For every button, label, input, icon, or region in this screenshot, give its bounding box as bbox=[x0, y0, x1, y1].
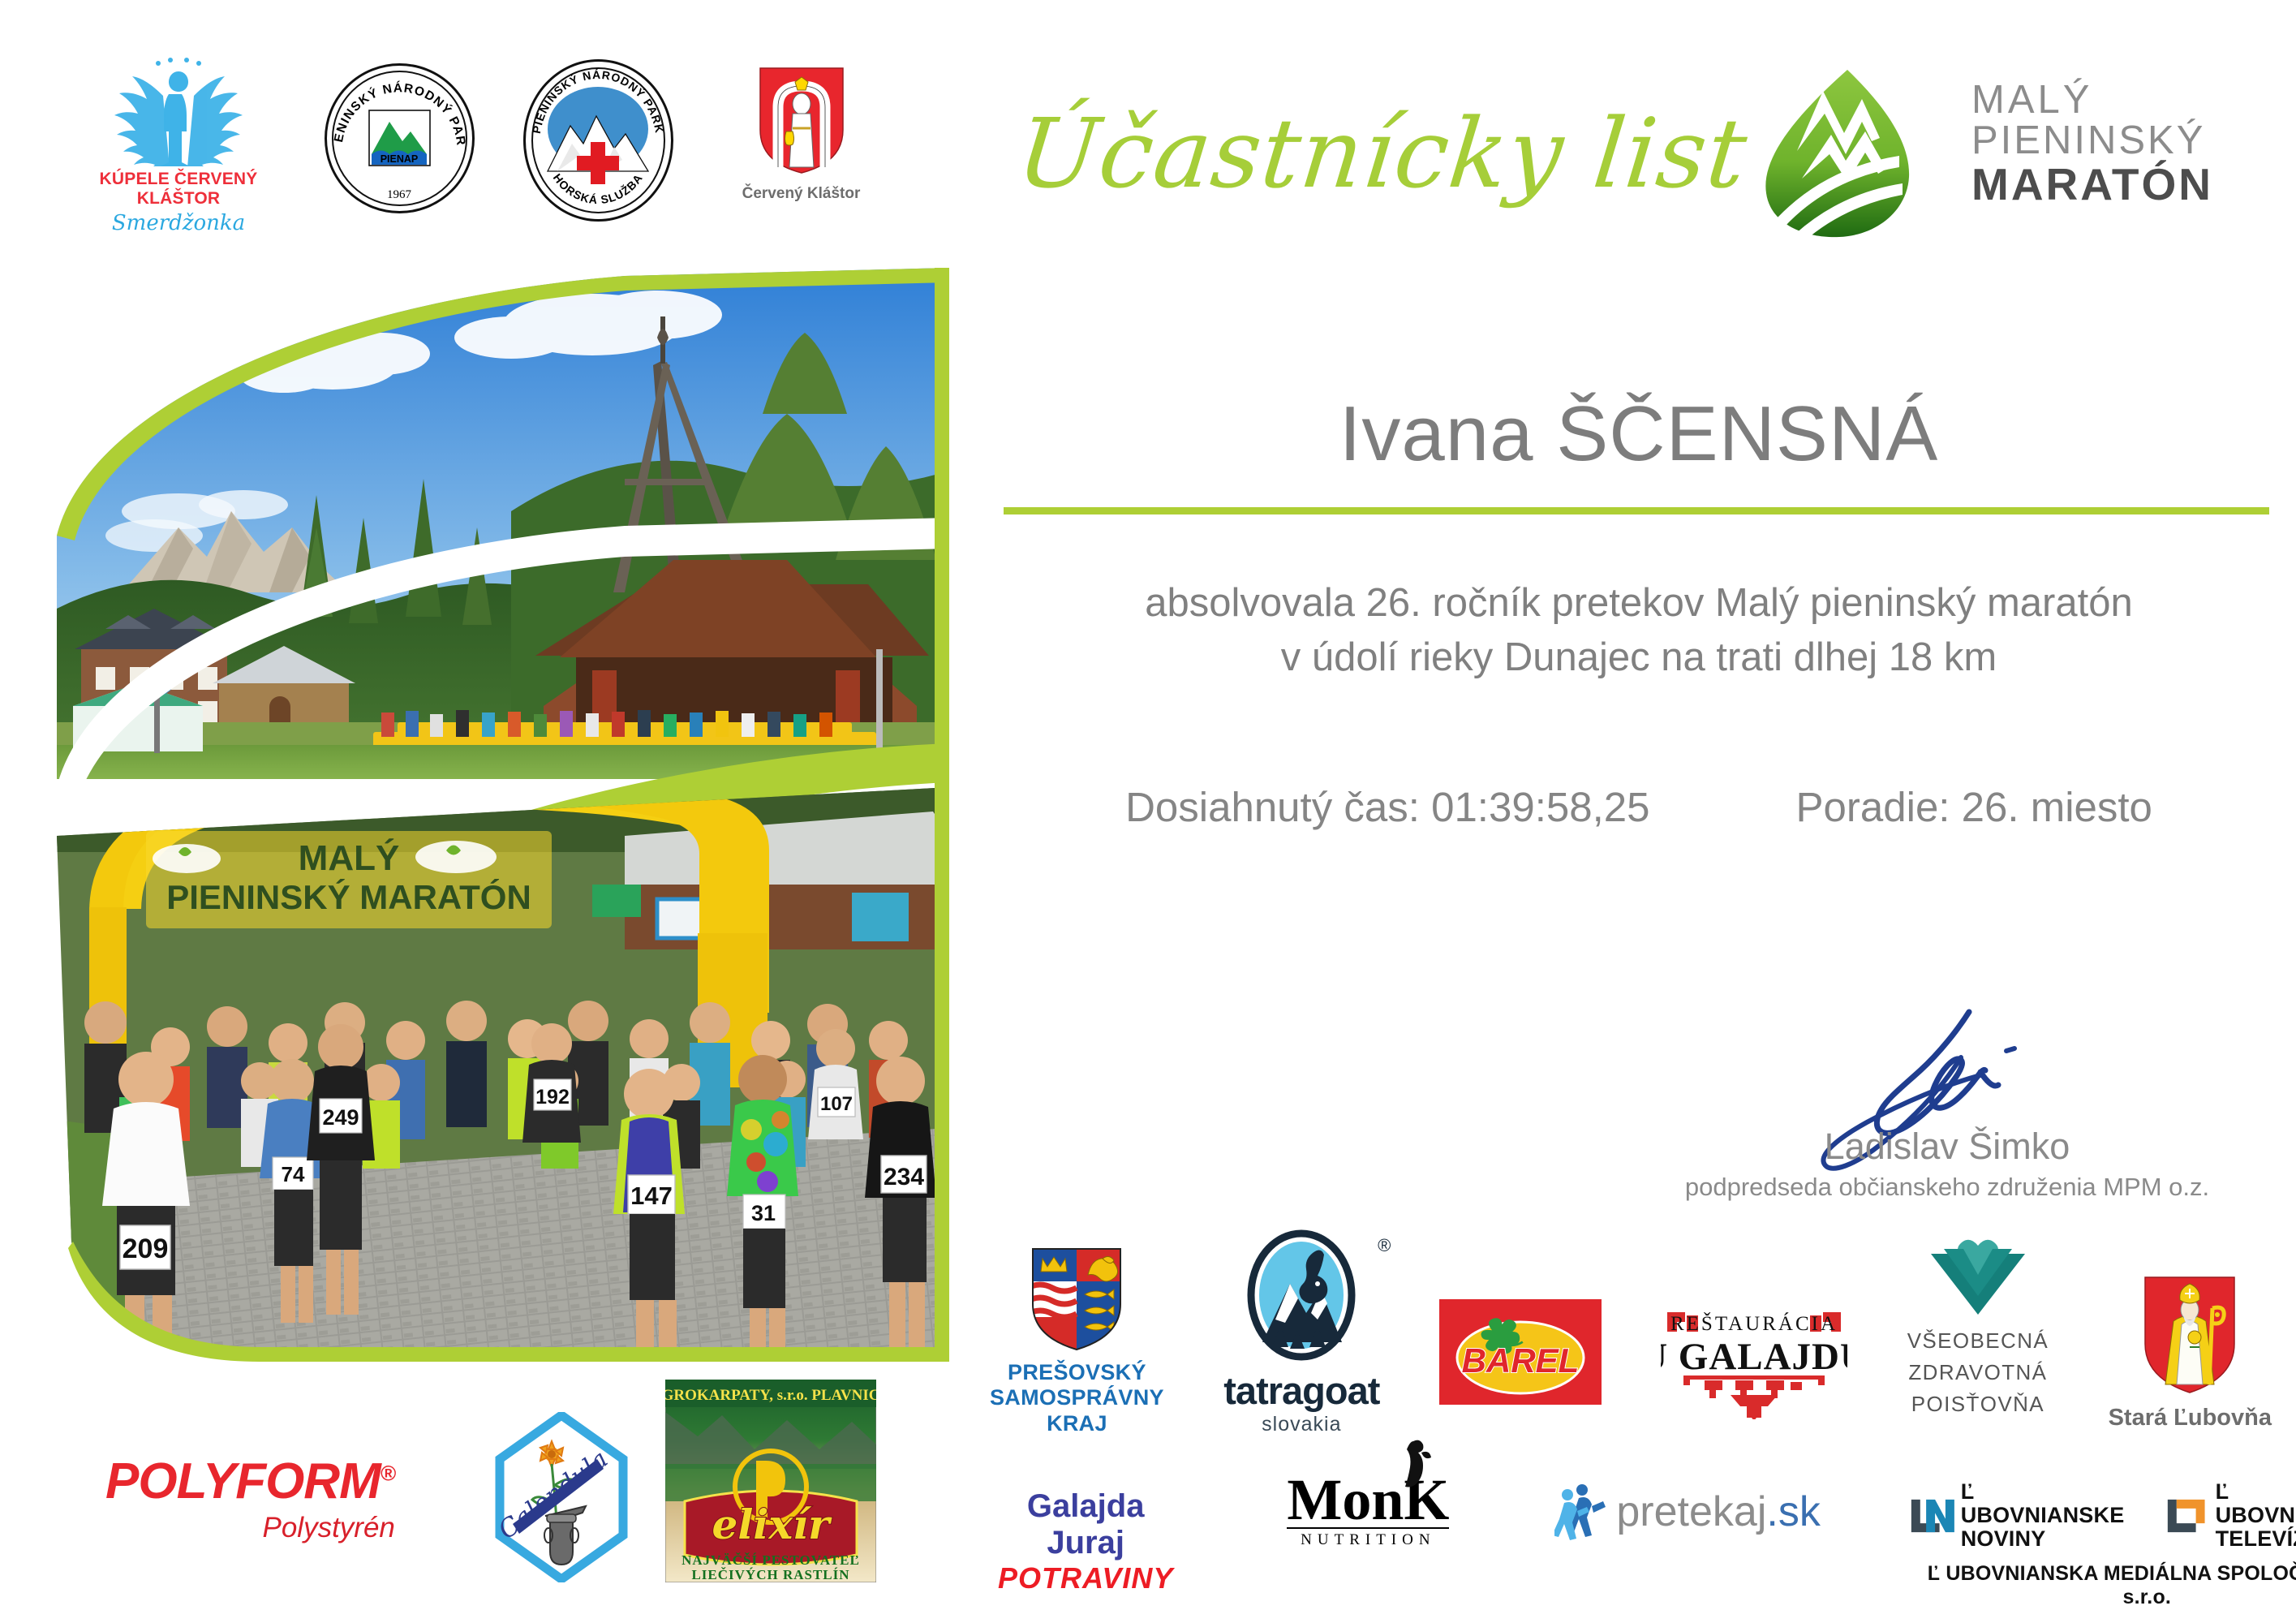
polyform-trademark: ® bbox=[381, 1461, 395, 1485]
svg-text:31: 31 bbox=[751, 1201, 776, 1225]
description-line-2: v údolí rieky Dunajec na trati dlhej 18 … bbox=[1006, 631, 2272, 685]
polyform-subtitle: Polystyrén bbox=[105, 1512, 395, 1544]
galajda-line1: Galajda Juraj bbox=[998, 1488, 1173, 1561]
u-galajdu-line2: U GALAJDU bbox=[1661, 1336, 1847, 1378]
sponsor-kupele-line1: KÚPELE ČERVENÝ KLÁŠTOR bbox=[77, 170, 280, 209]
participant-name: Ivana ŠČENSNÁ bbox=[1022, 390, 2255, 479]
svg-text:192: 192 bbox=[535, 1086, 570, 1109]
signature-name: Ladislav Šimko bbox=[1639, 1126, 2255, 1168]
top-sponsor-logos: KÚPELE ČERVENÝ KLÁŠTOR Smerdžonka PIENIN… bbox=[77, 57, 970, 243]
green-divider bbox=[1004, 507, 2269, 514]
angel-water-icon bbox=[110, 57, 247, 166]
sponsor-agrokarpaty-elixir: AGROKARPATY, s.r.o. PLAVNICA elixír NAJV… bbox=[665, 1380, 876, 1582]
signature-block: Ladislav Šimko podpredseda občianskeho z… bbox=[1639, 1002, 2255, 1202]
vszp-line3: POISŤOVŇA bbox=[1907, 1388, 2049, 1420]
horska-sluzba-svg: PIENINSKÝ NÁRODNÝ PARK HORSKÁ SLUŽBA bbox=[523, 59, 673, 222]
ltv-line1: Ľ UBOVNIANSKA bbox=[2216, 1480, 2296, 1527]
coat-of-arms-icon bbox=[757, 65, 846, 174]
sponsor-horska-sluzba: PIENINSKÝ NÁRODNÝ PARK HORSKÁ SLUŽBA bbox=[523, 59, 673, 222]
sponsor-tatragoat: ® tatragoat slovakia bbox=[1223, 1229, 1379, 1436]
monk-figure-icon bbox=[1391, 1438, 1439, 1488]
svg-text:107: 107 bbox=[820, 1093, 853, 1115]
psk-line2: SAMOSPRÁVNY bbox=[990, 1385, 1164, 1410]
galajda-line2: POTRAVINY bbox=[998, 1561, 1173, 1595]
svg-text:PIENAP: PIENAP bbox=[381, 153, 419, 165]
elixir-wordmark: elixír bbox=[712, 1500, 833, 1548]
finish-time: Dosiahnutý čas: 01:39:58,25 bbox=[1125, 783, 1649, 831]
mpm-logo-line2: PIENINSKÝ bbox=[1971, 120, 2272, 161]
mpm-logo-line1: MALÝ bbox=[1971, 80, 2272, 120]
barel-wordmark: BAREL bbox=[1461, 1341, 1579, 1380]
sponsor-barel: BAREL bbox=[1439, 1299, 1602, 1409]
mpm-logo: MALÝ PIENINSKÝ MARATÓN bbox=[1748, 63, 2268, 242]
svg-text:74: 74 bbox=[282, 1162, 305, 1186]
certificate-title: Účastnícky list bbox=[1013, 97, 1752, 209]
sponsor-lubovnianska-televizia: Ľ UBOVNIANSKA TELEVÍZIA bbox=[2166, 1480, 2296, 1551]
vszp-line1: VŠEOBECNÁ bbox=[1907, 1325, 2049, 1357]
description-line-1: absolvovala 26. ročník pretekov Malý pie… bbox=[1006, 576, 2272, 631]
sponsor-cerveny-klastor: Červený Kláštor bbox=[730, 65, 872, 203]
psk-line1: PREŠOVSKÝ bbox=[990, 1360, 1164, 1385]
elixir-bottom-line1: NAJVÄČŠÍ PESTOVATEĽ bbox=[681, 1552, 860, 1568]
svg-text:MALÝ: MALÝ bbox=[299, 837, 400, 878]
sponsor-pieninsky-narodny-park: PIENINSKÝ NÁRODNÝ PARK PIENAP 1967 bbox=[325, 63, 475, 213]
ln-line2: NOVINY bbox=[1961, 1527, 2129, 1551]
sponsor-stara-lubovna: Stará Ľubovňa bbox=[2109, 1274, 2272, 1431]
sponsor-kupele-cerveny-klastor: KÚPELE ČERVENÝ KLÁŠTOR Smerdžonka bbox=[77, 57, 280, 235]
sponsor-calendula: Calendula bbox=[495, 1412, 629, 1582]
elixir-logo-icon: AGROKARPATY, s.r.o. PLAVNICA elixír NAJV… bbox=[665, 1380, 876, 1582]
sponsor-pretekaj-sk: pretekaj.sk bbox=[1554, 1482, 1820, 1542]
mountain-leaf-logo-icon bbox=[1748, 63, 1951, 242]
polyform-wordmark: POLYFORM® bbox=[105, 1453, 395, 1510]
u-galajdu-logo-icon: REŠTAURÁCIA U GALAJDU bbox=[1661, 1298, 1847, 1419]
ltv-mark-icon bbox=[2166, 1496, 2209, 1535]
vszp-line2: ZDRAVOTNÁ bbox=[1907, 1357, 2049, 1388]
svg-text:249: 249 bbox=[322, 1105, 359, 1130]
sponsor-monk-nutrition: MonK NUTRITION bbox=[1287, 1472, 1449, 1549]
sponsor-lubovnianske-noviny: Ľ UBOVNIANSKE NOVINY bbox=[1910, 1480, 2129, 1551]
tatragoat-title: tatragoat bbox=[1223, 1368, 1379, 1413]
bottom-sponsors-row-1: PREŠOVSKÝ SAMOSPRÁVNY KRAJ bbox=[990, 1233, 2272, 1436]
ln-line1: Ľ UBOVNIANSKE bbox=[1961, 1480, 2129, 1527]
svg-text:147: 147 bbox=[630, 1182, 673, 1210]
monk-subtitle: NUTRITION bbox=[1287, 1527, 1449, 1549]
psk-line3: KRAJ bbox=[990, 1411, 1164, 1436]
mpm-logo-line3: MARATÓN bbox=[1971, 161, 2272, 208]
agrokarpaty-header: AGROKARPATY, s.r.o. PLAVNICA bbox=[665, 1387, 876, 1404]
tatragoat-trademark: ® bbox=[1378, 1235, 1391, 1256]
media-sponsors-group: Ľ UBOVNIANSKE NOVINY Ľ UBOVNIANSKA TELEV… bbox=[1910, 1480, 2296, 1609]
mpm-logo-text: MALÝ PIENINSKÝ MARATÓN bbox=[1971, 80, 2272, 208]
svg-text:1967: 1967 bbox=[387, 188, 412, 201]
tatragoat-logo-icon bbox=[1243, 1229, 1361, 1363]
stara-lubovna-label: Stará Ľubovňa bbox=[2109, 1405, 2272, 1431]
calendula-logo-icon: Calendula bbox=[495, 1412, 629, 1582]
signature-role: podpredseda občianskeho združenia MPM o.… bbox=[1639, 1173, 2255, 1202]
sponsor-cerveny-klastor-label: Červený Kláštor bbox=[730, 185, 872, 203]
svg-text:209: 209 bbox=[123, 1233, 169, 1264]
pienap-seal-svg: PIENINSKÝ NÁRODNÝ PARK PIENAP 1967 bbox=[325, 63, 475, 213]
elixir-bottom-line2: LIEČIVÝCH RASTLÍN bbox=[691, 1567, 849, 1582]
runners-icon bbox=[1554, 1482, 1611, 1542]
svg-text:234: 234 bbox=[884, 1164, 924, 1190]
certificate-description: absolvovala 26. ročník pretekov Malý pie… bbox=[1006, 576, 2272, 684]
results-row: Dosiahnutý čas: 01:39:58,25 Poradie: 26.… bbox=[1006, 783, 2272, 831]
barel-logo-icon: BAREL bbox=[1439, 1299, 1602, 1405]
sponsor-galajda-juraj: Galajda Juraj POTRAVINY bbox=[998, 1488, 1173, 1595]
ln-mark-icon bbox=[1910, 1496, 1954, 1535]
placement: Poradie: 26. miesto bbox=[1796, 783, 2152, 831]
sponsor-presovsky-samospravny-kraj: PREŠOVSKÝ SAMOSPRÁVNY KRAJ bbox=[990, 1246, 1164, 1436]
participant-certificate: KÚPELE ČERVENÝ KLÁŠTOR Smerdžonka PIENIN… bbox=[0, 0, 2296, 1623]
sponsor-polyform: POLYFORM® Polystyrén bbox=[105, 1453, 395, 1544]
bottom-sponsors-row-2: Galajda Juraj POTRAVINY MonK NUTRITION bbox=[965, 1469, 2280, 1615]
tatragoat-subtitle: slovakia bbox=[1223, 1413, 1379, 1436]
photo-panel: MALÝ PIENINSKÝ MARATÓN bbox=[57, 268, 949, 1388]
pretekaj-wordmark: pretekaj.sk bbox=[1616, 1487, 1820, 1536]
stara-lubovna-coat-icon bbox=[2141, 1274, 2238, 1396]
sponsor-kupele-line2: Smerdžonka bbox=[77, 211, 280, 235]
medialna-spolocnost-label: Ľ UBOVNIANSKA MEDIÁLNA SPOLOČNOSŤ, s.r.o… bbox=[1910, 1562, 2296, 1609]
u-galajdu-line1: REŠTAURÁCIA bbox=[1670, 1311, 1838, 1335]
sponsor-vseobecna-zdravotna-poistovna: VŠEOBECNÁ ZDRAVOTNÁ POISŤOVŇA bbox=[1907, 1238, 2049, 1420]
vszp-logo-icon bbox=[1929, 1238, 2027, 1315]
psk-coat-of-arms-icon bbox=[1028, 1246, 1125, 1351]
pretekaj-name: pretekaj bbox=[1616, 1488, 1766, 1535]
sponsor-u-galajdu: REŠTAURÁCIA U GALAJDU bbox=[1661, 1298, 1847, 1423]
polyform-name: POLYFORM bbox=[105, 1453, 381, 1509]
race-photos: MALÝ PIENINSKÝ MARATÓN bbox=[57, 268, 949, 1388]
svg-text:PIENINSKÝ MARATÓN: PIENINSKÝ MARATÓN bbox=[166, 877, 531, 916]
ltv-line2: TELEVÍZIA bbox=[2216, 1527, 2296, 1551]
pretekaj-tld: .sk bbox=[1766, 1488, 1820, 1535]
